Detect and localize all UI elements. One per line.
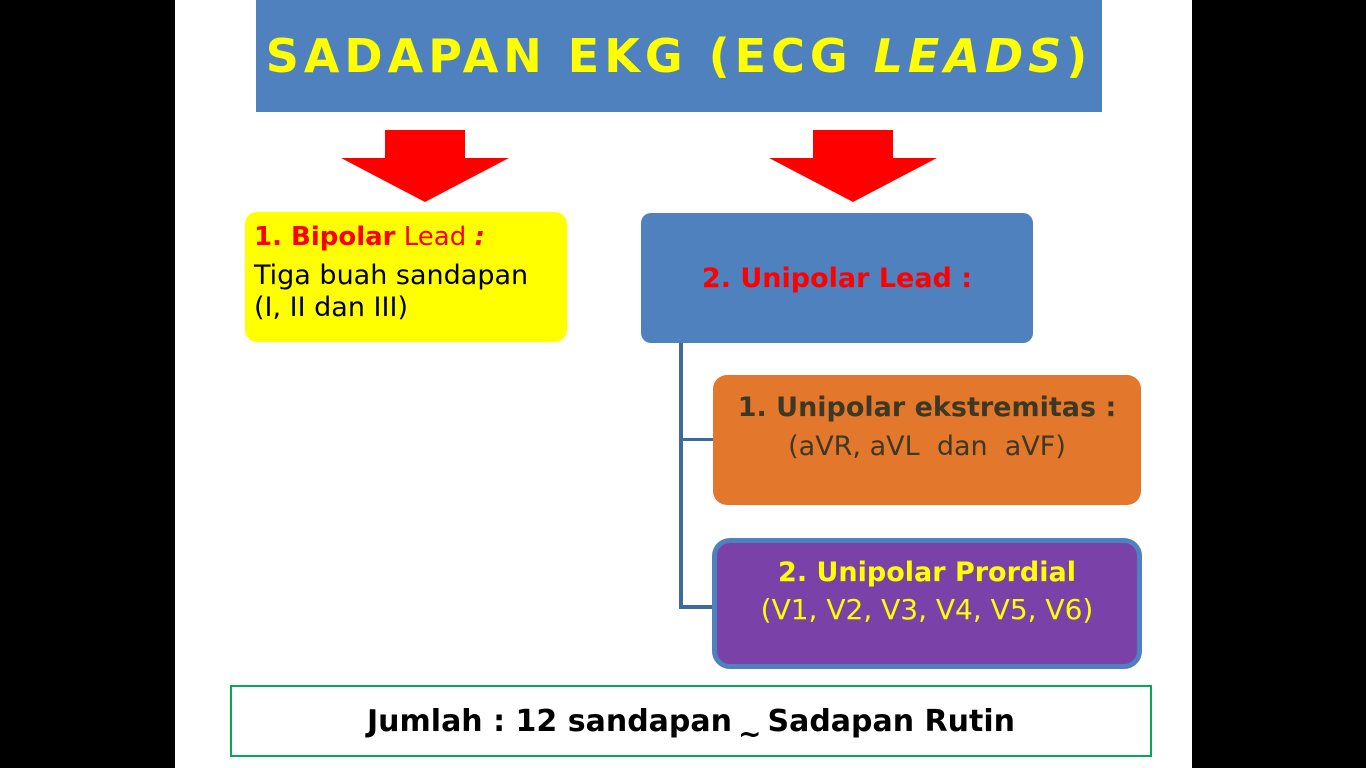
unipolar-label: 2. Unipolar Lead : [702, 263, 972, 294]
summary-text-right: Sadapan Rutin [767, 704, 1015, 739]
bipolar-heading-bold: 1. Bipolar [254, 222, 396, 252]
summary-bar: Jumlah : 12 sandapan~Sadapan Rutin [230, 685, 1152, 757]
bipolar-body: Tiga buah sandapan (I, II dan III) [254, 260, 567, 324]
summary-text-left: Jumlah : 12 sandapan [367, 704, 732, 739]
ekstremitas-body: (aVR, aVL dan aVF) [713, 429, 1141, 464]
card-unipolar-ekstremitas: 1. Unipolar ekstremitas : (aVR, aVL dan … [713, 375, 1141, 505]
title-text-part1: SADAPAN EKG (ECG [266, 29, 874, 83]
card-bipolar-lead: 1. Bipolar Lead : Tiga buah sandapan (I,… [245, 212, 567, 342]
summary-text: Jumlah : 12 sandapan~Sadapan Rutin [367, 704, 1015, 739]
red-down-arrow-left-icon [341, 130, 509, 200]
arrow-head [341, 158, 509, 202]
prordial-heading: 2. Unipolar Prordial [717, 556, 1137, 590]
summary-separator: ~ [732, 717, 767, 750]
prordial-body: (V1, V2, V3, V4, V5, V6) [717, 592, 1137, 628]
bipolar-heading-rest: Lead [396, 222, 475, 252]
arrow-head [769, 158, 937, 202]
page-title: SADAPAN EKG (ECG LEADS) [266, 33, 1093, 79]
slide-root: SADAPAN EKG (ECG LEADS) 1. Bipolar Lead … [0, 0, 1366, 768]
bipolar-body-line-1: Tiga buah sandapan [254, 260, 567, 292]
slide-stage: SADAPAN EKG (ECG LEADS) 1. Bipolar Lead … [175, 0, 1192, 768]
red-down-arrow-right-icon [769, 130, 937, 200]
ekstremitas-heading: 1. Unipolar ekstremitas : [713, 391, 1141, 425]
card-unipolar-lead: 2. Unipolar Lead : [641, 213, 1033, 343]
title-text-part2: ) [1066, 29, 1092, 83]
title-text-italic: LEADS [874, 29, 1067, 83]
connector-trunk [679, 343, 683, 609]
bipolar-heading-colon: : [475, 222, 485, 252]
title-banner: SADAPAN EKG (ECG LEADS) [256, 0, 1102, 112]
bipolar-body-line-2: (I, II dan III) [254, 292, 567, 324]
card-unipolar-prordial: 2. Unipolar Prordial (V1, V2, V3, V4, V5… [712, 538, 1142, 669]
bipolar-heading: 1. Bipolar Lead : [254, 222, 567, 254]
